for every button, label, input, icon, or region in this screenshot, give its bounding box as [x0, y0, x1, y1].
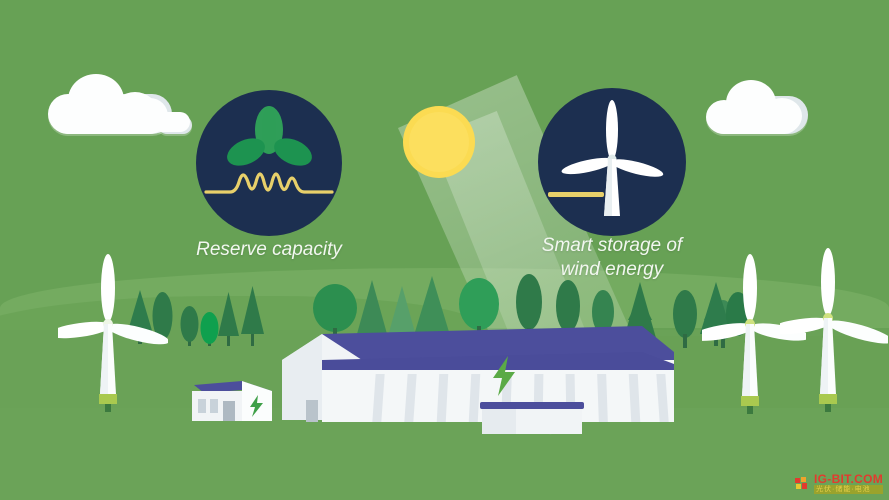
wind-turbine-icon	[538, 88, 686, 236]
battery-container	[480, 402, 584, 434]
watermark-logo-icon	[794, 476, 810, 492]
cloud-right	[706, 78, 810, 134]
wind-turbine-left	[58, 252, 168, 422]
cloud-left-small	[152, 112, 192, 134]
wind-turbine-right-front	[780, 246, 888, 422]
sun-core	[409, 112, 469, 172]
watermark-secondary-text: 光伏·储能·电池	[814, 485, 883, 494]
badge-smart-storage-label: Smart storage of wind energy	[524, 234, 700, 282]
lightning-bolt-icon	[488, 354, 522, 398]
substation-house	[176, 373, 272, 423]
ig-bit-watermark: IG-BIT.COM 光伏·储能·电池	[794, 473, 883, 494]
badge-reserve-capacity-label: Reserve capacity	[176, 238, 362, 262]
illustration-canvas: Reserve capacity Smart storage of wind e…	[0, 0, 889, 500]
badge-reserve-capacity[interactable]	[196, 90, 342, 236]
watermark-primary-text: IG-BIT.COM	[814, 473, 883, 485]
energy-storage-facility	[282, 312, 674, 432]
badge-smart-storage[interactable]	[538, 88, 686, 236]
leaves-with-waveform-icon	[196, 90, 342, 236]
